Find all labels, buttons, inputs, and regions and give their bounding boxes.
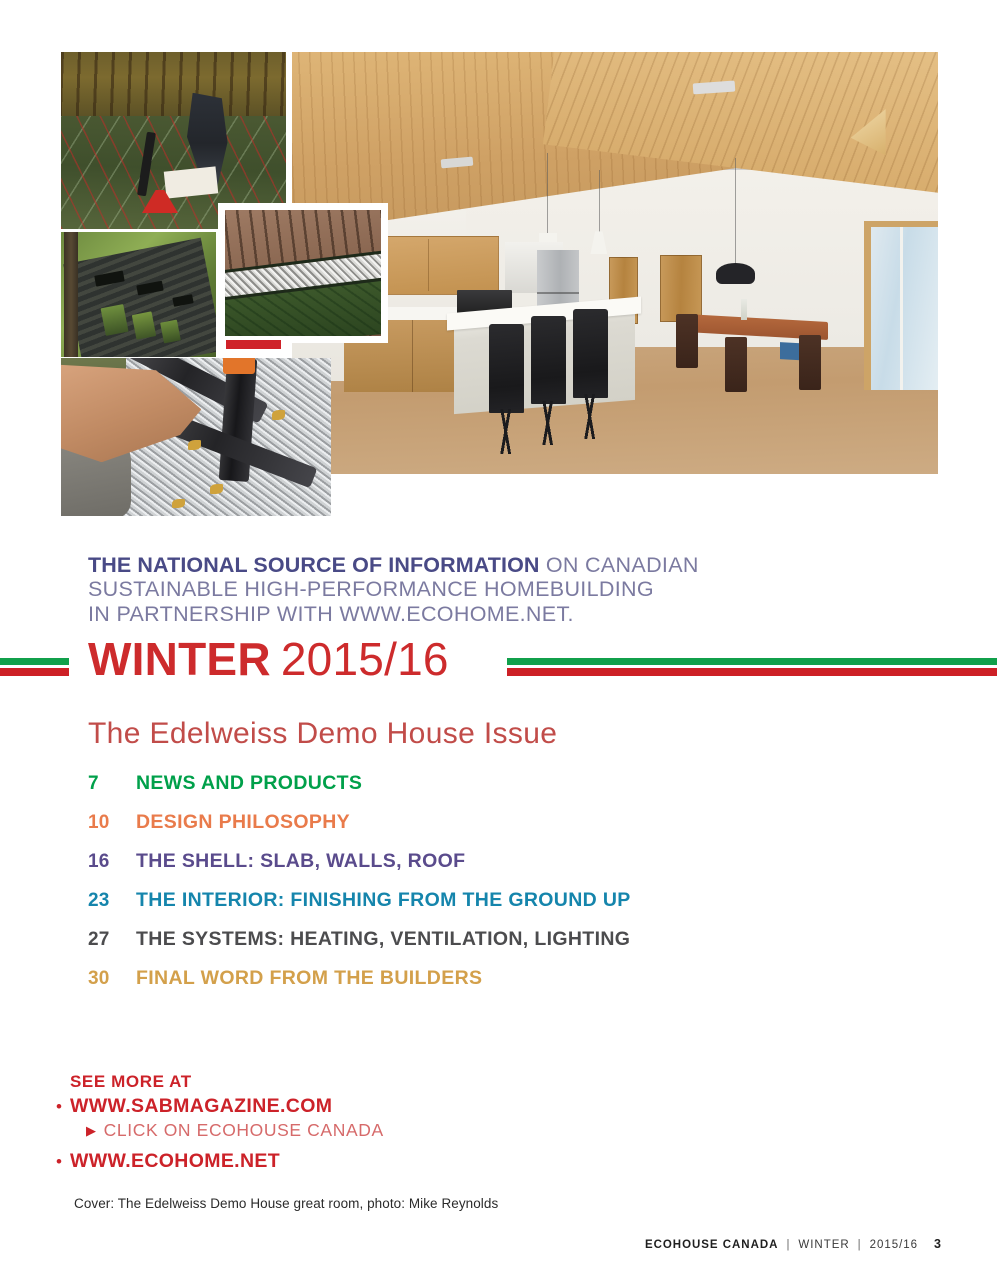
link-sabmagazine[interactable]: WWW.SABMAGAZINE.COM bbox=[70, 1095, 332, 1118]
page-footer: ECOHOUSE CANADA | WINTER | 2015/16 3 bbox=[645, 1237, 941, 1251]
stripe-green-right bbox=[507, 658, 997, 665]
toc-page-number: 7 bbox=[88, 773, 136, 795]
interior-door-2 bbox=[660, 255, 701, 323]
tagline-line-1: THE NATIONAL SOURCE OF INFORMATION ON CA… bbox=[88, 553, 888, 577]
tagline-line-3: IN PARTNERSHIP WITH WWW.ECOHOME.NET. bbox=[88, 602, 888, 626]
stripe-red-left bbox=[0, 668, 69, 676]
toc-entry-title: NEWS AND PRODUCTS bbox=[136, 772, 362, 795]
toc-page-number: 16 bbox=[88, 851, 136, 873]
see-more-block: SEE MORE AT • WWW.SABMAGAZINE.COM ▶ CLIC… bbox=[56, 1072, 656, 1173]
toc-entry-final-word[interactable]: 30 FINAL WORD FROM THE BUILDERS bbox=[88, 967, 888, 1006]
wall-gap bbox=[132, 312, 157, 340]
footer-separator: | bbox=[786, 1239, 790, 1251]
bar-stool bbox=[531, 316, 566, 405]
toc-entry-title: THE SYSTEMS: HEATING, VENTILATION, LIGHT… bbox=[136, 928, 630, 951]
track-light-right bbox=[692, 80, 735, 94]
toc-entry-the-shell[interactable]: 16 THE SHELL: SLAB, WALLS, ROOF bbox=[88, 850, 888, 889]
photo-great-room bbox=[292, 52, 938, 474]
footer-page-number: 3 bbox=[934, 1237, 941, 1251]
issue-year: 2015/16 bbox=[281, 633, 449, 685]
toc-entry-the-interior[interactable]: 23 THE INTERIOR: FINISHING FROM THE GROU… bbox=[88, 889, 888, 928]
pendant-light-3-dome bbox=[716, 263, 755, 284]
tagline-line-1-light: ON CANADIAN bbox=[540, 553, 699, 577]
see-more-link-sabmagazine-row[interactable]: • WWW.SABMAGAZINE.COM bbox=[56, 1095, 656, 1118]
issue-title: WINTER2015/16 bbox=[88, 632, 449, 686]
photo-exterior-cladding bbox=[61, 232, 216, 357]
fallen-leaf bbox=[210, 484, 224, 493]
toc-page-number: 10 bbox=[88, 812, 136, 834]
publication-tagline: THE NATIONAL SOURCE OF INFORMATION ON CA… bbox=[88, 553, 888, 626]
dining-chair bbox=[799, 335, 821, 390]
toc-entry-title: THE SHELL: SLAB, WALLS, ROOF bbox=[136, 850, 465, 873]
toc-entry-design-philosophy[interactable]: 10 DESIGN PHILOSOPHY bbox=[88, 811, 888, 850]
tagline-line-1-bold: THE NATIONAL SOURCE OF INFORMATION bbox=[88, 553, 540, 577]
photo-footing-drain bbox=[225, 210, 381, 336]
bar-stool bbox=[489, 324, 524, 413]
toc-entry-title: DESIGN PHILOSOPHY bbox=[136, 811, 350, 834]
great-room-scene bbox=[292, 52, 938, 474]
fallen-leaf bbox=[188, 440, 202, 449]
play-arrow-icon: ▶ bbox=[86, 1124, 97, 1137]
bar-stool bbox=[573, 309, 608, 398]
stripe-green-left bbox=[0, 658, 69, 665]
bullet-icon: • bbox=[56, 1153, 70, 1170]
toc-entry-news-and-products[interactable]: 7 NEWS AND PRODUCTS bbox=[88, 772, 888, 811]
footer-brand: ECOHOUSE CANADA bbox=[645, 1239, 779, 1251]
toc-page-number: 27 bbox=[88, 929, 136, 951]
see-more-link-ecohome-row[interactable]: • WWW.ECOHOME.NET bbox=[56, 1150, 656, 1173]
drain-pipe-scene bbox=[61, 358, 331, 516]
see-more-instruction-text: CLICK ON ECOHOUSE CANADA bbox=[104, 1120, 384, 1141]
table-of-contents: 7 NEWS AND PRODUCTS 10 DESIGN PHILOSOPHY… bbox=[88, 772, 888, 1006]
cladding-scene bbox=[61, 232, 216, 357]
toc-page-number: 30 bbox=[88, 968, 136, 990]
table-vase bbox=[741, 299, 747, 320]
bullet-icon: • bbox=[56, 1098, 70, 1115]
issue-subtitle: The Edelweiss Demo House Issue bbox=[88, 717, 557, 751]
toc-entry-the-systems[interactable]: 27 THE SYSTEMS: HEATING, VENTILATION, LI… bbox=[88, 928, 888, 967]
stripe-red-right bbox=[507, 668, 997, 676]
pendant-cord bbox=[599, 170, 600, 233]
cover-photo-collage bbox=[0, 0, 997, 530]
photo-drain-pipe-install bbox=[61, 358, 331, 516]
toc-entry-title: FINAL WORD FROM THE BUILDERS bbox=[136, 967, 482, 990]
toc-entry-title: THE INTERIOR: FINISHING FROM THE GROUND … bbox=[136, 889, 631, 912]
tagline-line-2: SUSTAINABLE HIGH-PERFORMANCE HOMEBUILDIN… bbox=[88, 577, 888, 601]
dining-chair bbox=[725, 337, 747, 392]
tree-trunk bbox=[64, 232, 78, 357]
orange-riser-cap bbox=[223, 358, 255, 374]
pendant-cord bbox=[735, 158, 736, 268]
issue-season: WINTER bbox=[88, 633, 271, 685]
sliding-glass-door bbox=[864, 221, 938, 390]
footer-season: WINTER bbox=[798, 1239, 849, 1251]
photo-footing-drain-frame bbox=[218, 203, 388, 343]
see-more-heading: SEE MORE AT bbox=[70, 1072, 656, 1092]
pendant-cord bbox=[547, 153, 548, 237]
white-board bbox=[163, 166, 217, 198]
footing-drain-scene bbox=[225, 210, 381, 336]
link-ecohome[interactable]: WWW.ECOHOME.NET bbox=[70, 1150, 280, 1173]
footer-year: 2015/16 bbox=[870, 1239, 918, 1251]
collage-red-accent-bar bbox=[226, 340, 281, 349]
cover-photo-credit: Cover: The Edelweiss Demo House great ro… bbox=[74, 1196, 498, 1211]
dining-chair bbox=[676, 314, 698, 369]
toc-page-number: 23 bbox=[88, 890, 136, 912]
fallen-leaf bbox=[272, 410, 286, 419]
autumn-forest-background bbox=[61, 52, 286, 116]
see-more-instruction-row: ▶ CLICK ON ECOHOUSE CANADA bbox=[86, 1120, 656, 1141]
wall-gap bbox=[160, 319, 181, 343]
footer-separator: | bbox=[858, 1239, 862, 1251]
